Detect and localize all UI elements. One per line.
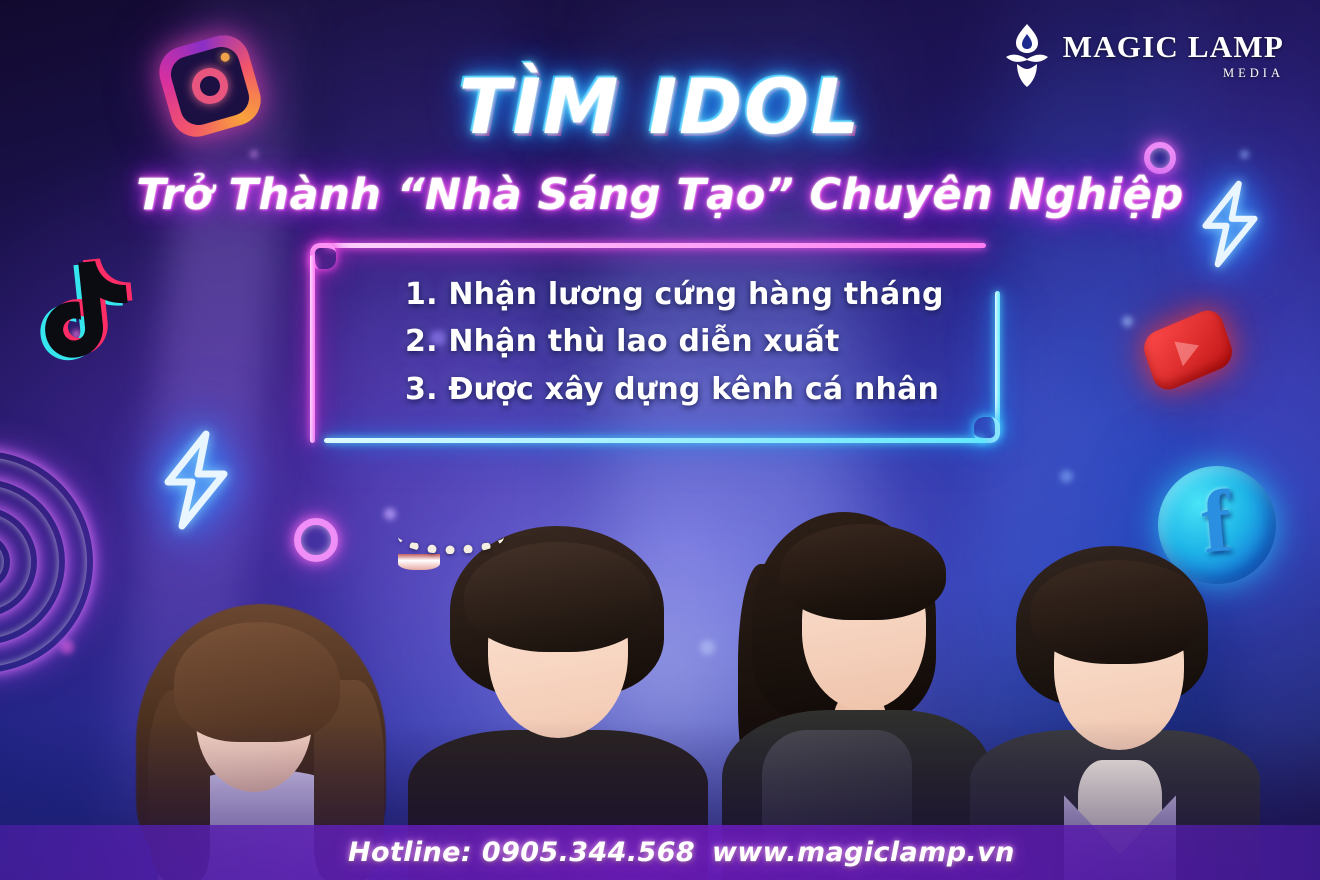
- contact-footer: Hotline: 0905.344.568 www.magiclamp.vn: [0, 825, 1320, 880]
- page-title: TÌM IDOL: [459, 62, 862, 151]
- website-text[interactable]: www.magiclamp.vn: [712, 837, 1015, 868]
- brand-logo: MAGIC LAMP MEDIA: [1004, 22, 1284, 88]
- bokeh-spark: [250, 150, 258, 158]
- tiktok-icon: [40, 258, 136, 358]
- benefits-list: 1. Nhận lương cứng hàng tháng 2. Nhận th…: [405, 271, 965, 413]
- bokeh-spark: [1240, 150, 1249, 159]
- list-item: 2. Nhận thù lao diễn xuất: [405, 318, 965, 365]
- frame-bottom-edge: [324, 438, 986, 443]
- subtitle-container: Trở Thành “Nhà Sáng Tạo” Chuyên Nghiệp: [0, 170, 1320, 220]
- promo-banner: f MAGIC LAMP MEDIA TÌM IDOL Trở Thành “N…: [0, 0, 1320, 880]
- magic-lamp-flame-icon: [1004, 22, 1050, 88]
- list-item: 1. Nhận lương cứng hàng tháng: [405, 271, 965, 318]
- youtube-icon: [1146, 320, 1230, 380]
- idol-portraits: [0, 460, 1320, 880]
- list-item: 3. Được xây dựng kênh cá nhân: [405, 366, 965, 413]
- frame-right-edge: [995, 291, 1000, 435]
- hotline-text: Hotline: 0905.344.568: [348, 837, 695, 868]
- frame-left-edge: [310, 255, 315, 443]
- bokeh-spark: [1122, 316, 1133, 327]
- brand-name: MAGIC LAMP: [1063, 31, 1284, 62]
- page-subtitle: Trở Thành “Nhà Sáng Tạo” Chuyên Nghiệp: [136, 170, 1183, 220]
- frame-top-edge: [324, 243, 986, 248]
- brand-tagline: MEDIA: [1063, 67, 1284, 80]
- neon-bracket-frame: 1. Nhận lương cứng hàng tháng 2. Nhận th…: [310, 243, 1000, 443]
